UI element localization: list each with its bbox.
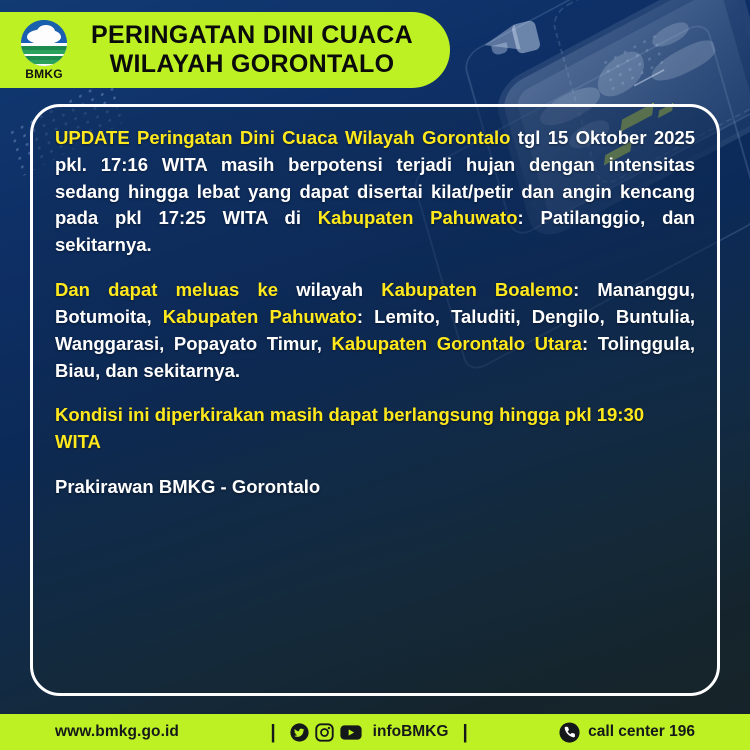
footer-separator-left: | <box>270 723 275 742</box>
highlight-text: Kabupaten Pahuwato <box>163 306 357 327</box>
twitter-icon[interactable] <box>290 723 309 742</box>
map-landmass <box>593 45 649 103</box>
body-text: Prakirawan BMKG - Gorontalo <box>55 476 320 497</box>
footer-website[interactable]: www.bmkg.go.id <box>55 723 179 741</box>
footer-call-center[interactable]: call center 196 <box>588 723 695 741</box>
footer-social-handle[interactable]: infoBMKG <box>373 723 449 741</box>
weather-warning-poster: BMKG PERINGATAN DINI CUACA WILAYAH GORON… <box>0 0 750 750</box>
page-title-line-2: WILAYAH GORONTALO <box>82 50 422 80</box>
decor-dot-grid-2 <box>600 28 671 92</box>
instagram-icon[interactable] <box>315 723 334 742</box>
header-banner: BMKG PERINGATAN DINI CUACA WILAYAH GORON… <box>0 12 450 88</box>
page-title: PERINGATAN DINI CUACA WILAYAH GORONTALO <box>82 21 450 80</box>
page-title-line-1: PERINGATAN DINI CUACA <box>82 21 422 51</box>
warning-signature: Prakirawan BMKG - Gorontalo <box>55 474 695 501</box>
warning-paragraph: UPDATE Peringatan Dini Cuaca Wilayah Gor… <box>55 125 695 259</box>
warning-paragraph: Kondisi ini diperkirakan masih dapat ber… <box>55 402 695 456</box>
phone-icon <box>559 722 580 743</box>
highlight-text: Kabupaten Pahuwato <box>318 207 518 228</box>
warning-card: UPDATE Peringatan Dini Cuaca Wilayah Gor… <box>30 104 720 696</box>
youtube-icon[interactable] <box>340 723 362 742</box>
highlight-text: Kondisi ini diperkirakan masih dapat ber… <box>55 404 644 452</box>
bmkg-logo: BMKG <box>12 20 76 81</box>
megaphone-icon <box>478 18 548 64</box>
warning-paragraph: Dan dapat meluas ke wilayah Kabupaten Bo… <box>55 277 695 384</box>
footer-separator-right: | <box>462 723 467 742</box>
highlight-text: Dan dapat meluas ke <box>55 279 278 300</box>
highlight-text: Kabupaten Boalemo <box>381 279 573 300</box>
warning-card-body: UPDATE Peringatan Dini Cuaca Wilayah Gor… <box>33 107 717 501</box>
highlight-text: Kabupaten Gorontalo Utara <box>332 333 582 354</box>
bmkg-logo-text: BMKG <box>25 67 62 81</box>
highlight-text: UPDATE Peringatan Dini Cuaca Wilayah Gor… <box>55 127 510 148</box>
body-text: wilayah <box>278 279 381 300</box>
plane-icon <box>634 69 664 86</box>
map-landmass <box>650 17 690 53</box>
footer-social-icons <box>290 723 362 742</box>
bmkg-logo-emblem <box>21 20 67 66</box>
footer-social-group: | <box>264 723 473 742</box>
footer-call-group: call center 196 <box>559 722 695 743</box>
map-landmass <box>649 34 717 90</box>
footer-bar: www.bmkg.go.id | <box>0 714 750 750</box>
